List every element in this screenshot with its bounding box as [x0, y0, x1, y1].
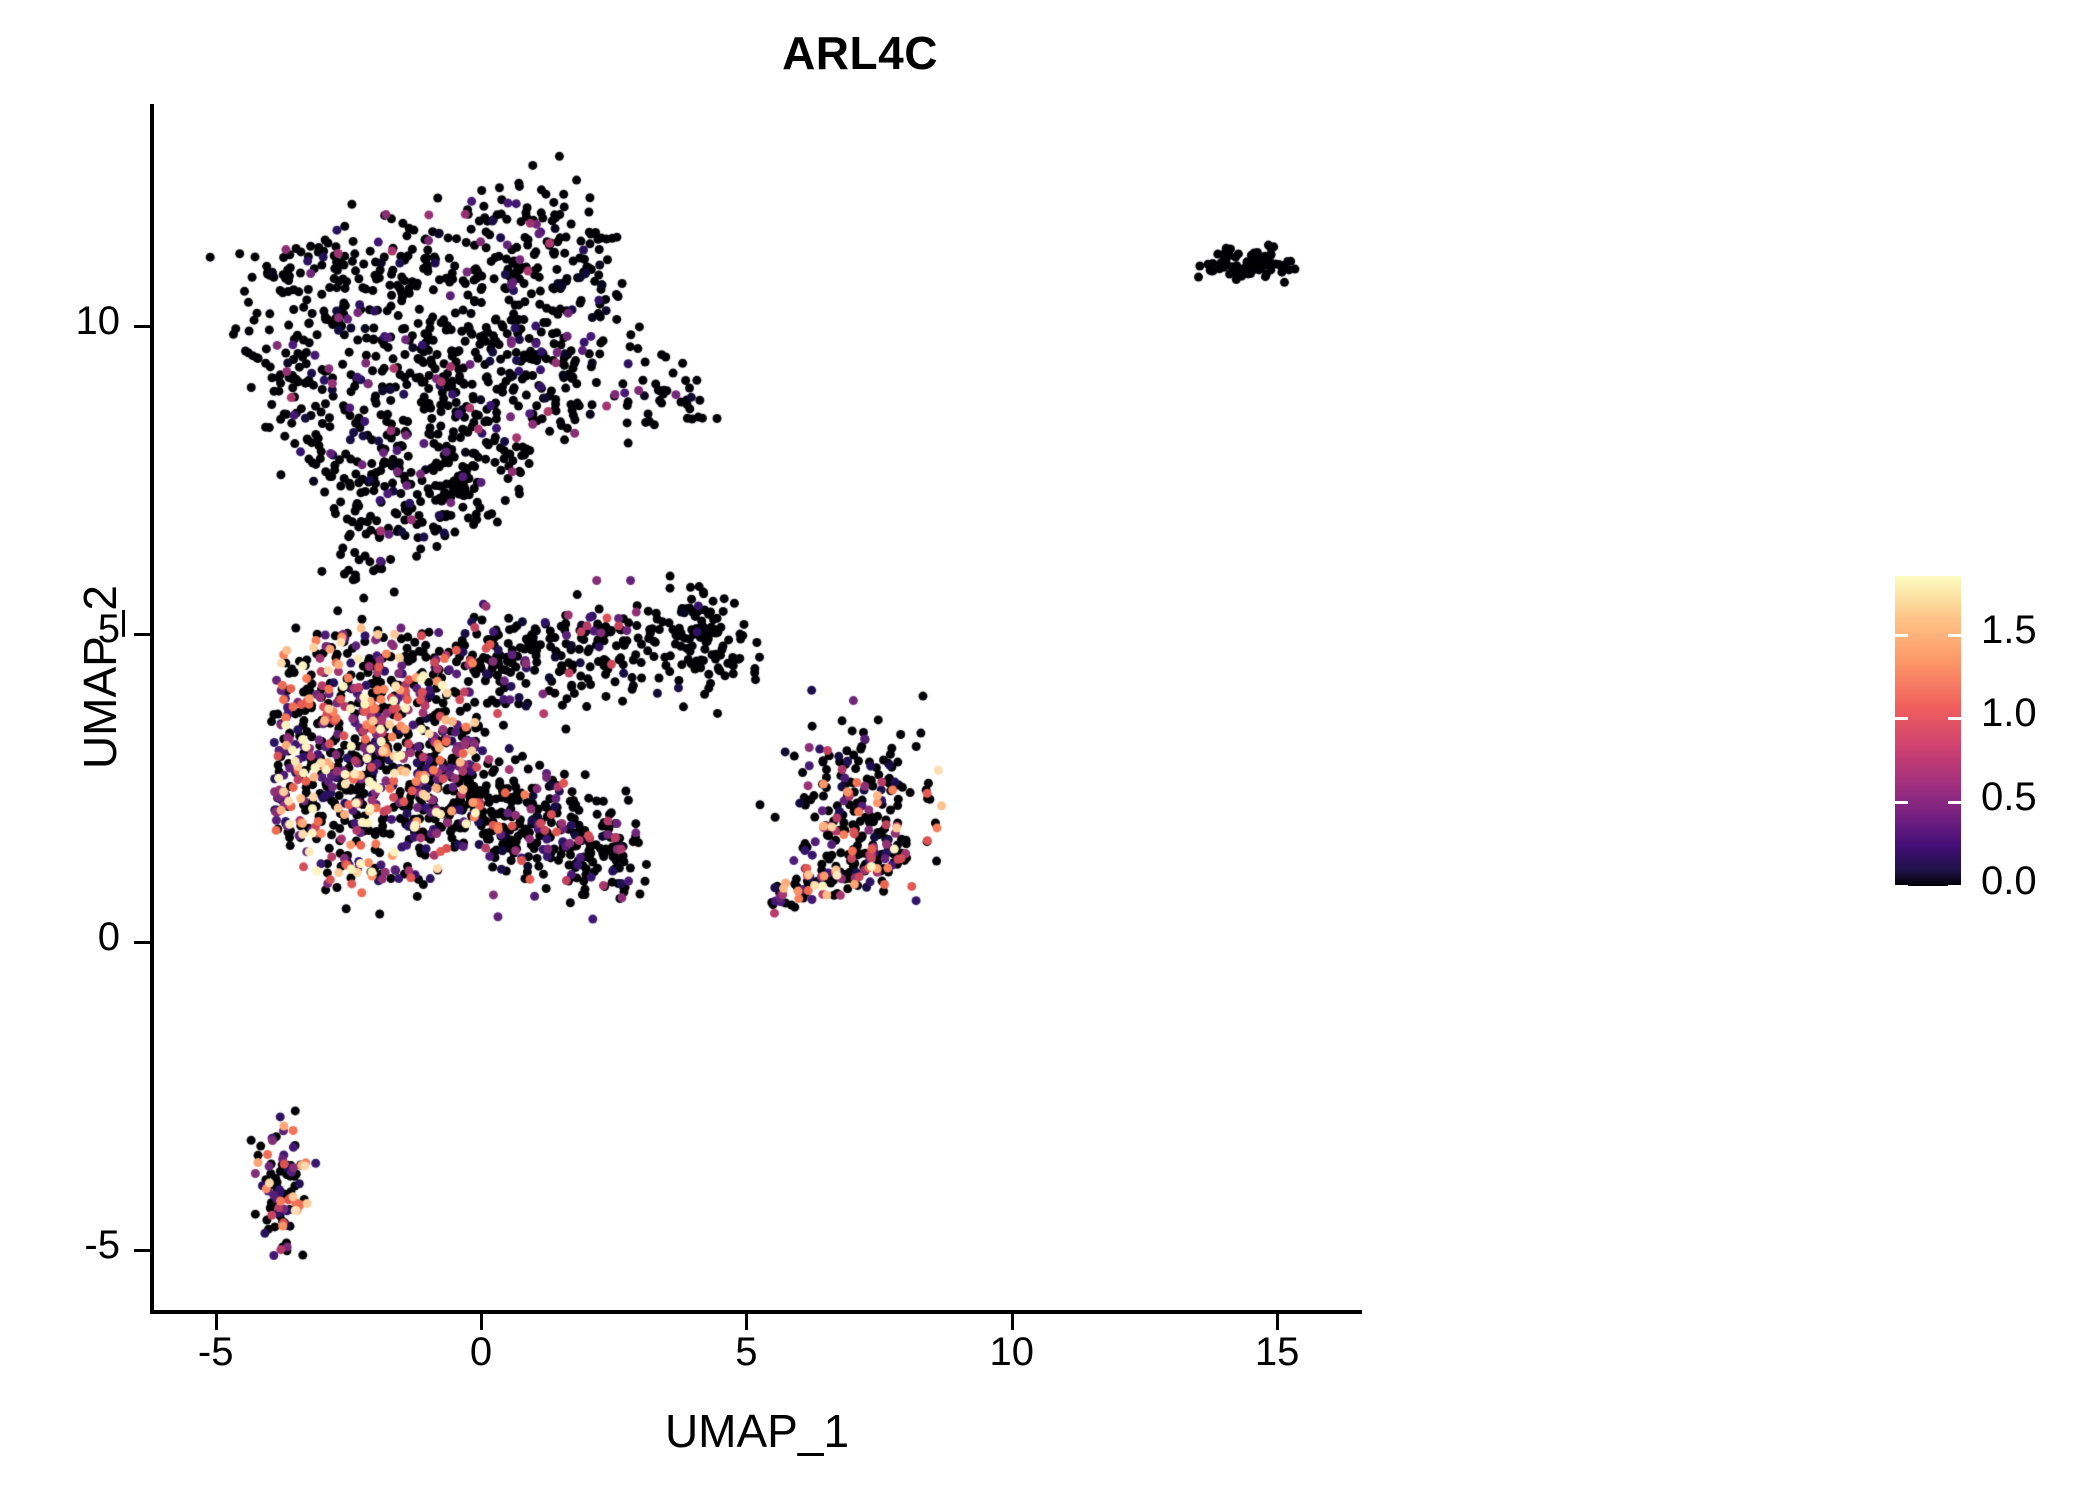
colorbar-tick-mark [1948, 717, 1961, 720]
y-axis-line [150, 104, 154, 1314]
colorbar-tick-label: 1.0 [1981, 691, 2037, 736]
y-tick-mark [134, 325, 150, 328]
colorbar-tick-mark [1895, 801, 1908, 804]
x-tick-mark [745, 1314, 748, 1330]
x-tick-mark [480, 1314, 483, 1330]
colorbar-tick-mark [1948, 885, 1961, 888]
scatter-canvas [152, 104, 1362, 1312]
colorbar-gradient: 0.00.51.01.5 [1895, 576, 1961, 886]
colorbar-tick-label: 0.0 [1981, 859, 2037, 904]
x-tick-mark [215, 1314, 218, 1330]
x-tick-label: -5 [146, 1330, 286, 1375]
y-axis-title: UMAP_2 [73, 327, 127, 1027]
x-tick-mark [1276, 1314, 1279, 1330]
chart-root: ARL4C -50510 -5051015 UMAP_1 UMAP_2 0.00… [0, 0, 2100, 1500]
y-tick-label: -5 [0, 1223, 120, 1268]
x-axis-title: UMAP_1 [152, 1404, 1362, 1458]
x-tick-label: 15 [1207, 1330, 1347, 1375]
y-tick-mark [134, 1249, 150, 1252]
x-tick-label: 10 [942, 1330, 1082, 1375]
colorbar-tick-mark [1895, 717, 1908, 720]
colorbar-tick-label: 1.5 [1981, 608, 2037, 653]
colorbar-tick-mark [1948, 634, 1961, 637]
colorbar-tick-mark [1948, 801, 1961, 804]
y-tick-mark [134, 941, 150, 944]
colorbar-tick-mark [1895, 634, 1908, 637]
x-tick-mark [1011, 1314, 1014, 1330]
x-tick-label: 5 [676, 1330, 816, 1375]
y-tick-mark [134, 633, 150, 636]
scatter-plot-panel [152, 104, 1362, 1312]
colorbar-tick-mark [1895, 885, 1908, 888]
x-axis-line [150, 1310, 1362, 1314]
colorbar-legend: 0.00.51.01.5 [1895, 576, 1961, 886]
page-title: ARL4C [0, 26, 1720, 80]
x-tick-label: 0 [411, 1330, 551, 1375]
colorbar-tick-label: 0.5 [1981, 775, 2037, 820]
